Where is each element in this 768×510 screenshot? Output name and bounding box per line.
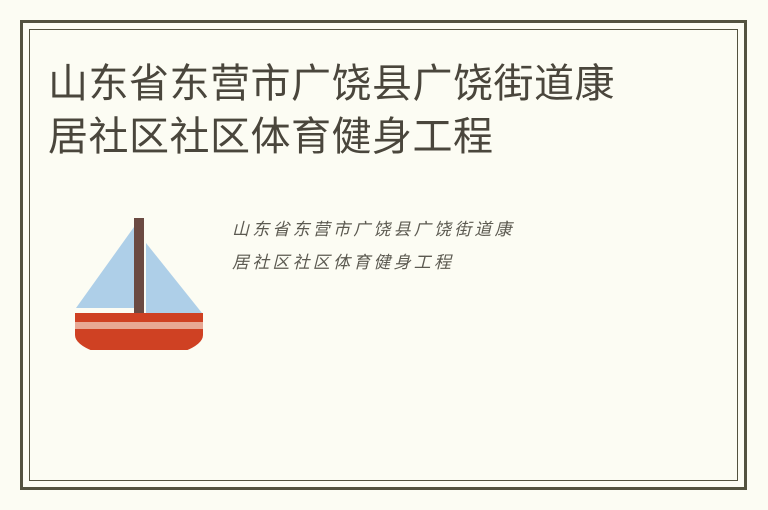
card-caption-line-1: 山东省东营市广饶县广饶街道康: [232, 214, 702, 247]
hull-body: [75, 329, 203, 350]
page-title-line-1: 山东省东营市广饶县广饶街道康: [48, 58, 688, 111]
hull-top-band: [75, 313, 203, 322]
content-card: 山东省东营市广饶县广饶街道康 居社区社区体育健身工程: [48, 200, 708, 360]
page-root: 山东省东营市广饶县广饶街道康 居社区社区体育健身工程 山东省东营市广饶县广饶街道…: [0, 0, 768, 510]
page-title-line-2: 居社区社区体育健身工程: [48, 111, 688, 164]
mast-shape: [134, 218, 144, 322]
card-caption-line-2: 居社区社区体育健身工程: [232, 247, 702, 280]
page-title: 山东省东营市广饶县广饶街道康 居社区社区体育健身工程: [48, 58, 688, 164]
sailboat-icon-graphic: [66, 200, 216, 350]
sailboat-icon: [66, 200, 216, 350]
hull-stripe: [75, 322, 203, 329]
card-caption: 山东省东营市广饶县广饶街道康 居社区社区体育健身工程: [232, 214, 702, 280]
sail-right-shape: [146, 243, 202, 313]
sail-left-shape: [76, 227, 134, 308]
